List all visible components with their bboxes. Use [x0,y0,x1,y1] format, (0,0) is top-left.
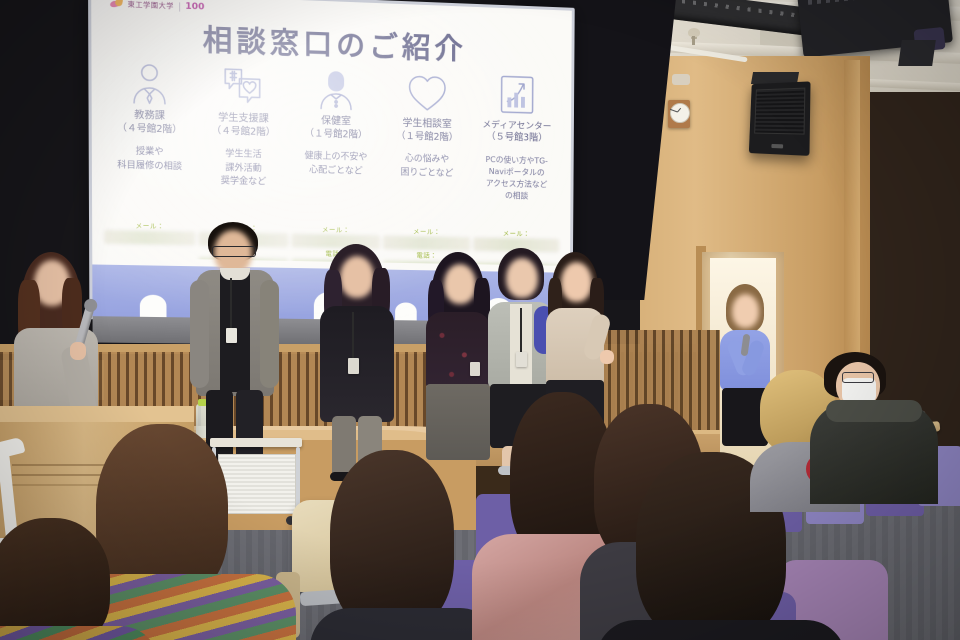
lecture-hall-photo: 東工学園大学 100 相談窓口のご紹介 教務課 [0,0,960,640]
desk-column-kyomuka: 教務課 （４号館2階） 授業や 科目履修の相談 [104,56,195,195]
sprinkler-head-icon [688,28,700,37]
desk-location: （１号館2階） [292,127,380,142]
consultation-desk-columns: 教務課 （４号館2階） 授業や 科目履修の相談 学生支援課 （４号 [104,56,560,203]
mail-value-redacted [383,236,469,251]
panelist-floral-blouse [424,252,494,470]
mail-value-redacted [105,230,195,245]
desk-column-gakusei-shienka: 学生支援課 （４号館2階） 学生生活 課外活動 奨学金など [199,59,288,197]
ceiling-speaker-icon [749,81,811,156]
university-logo: 東工学園大学 100 [110,0,205,13]
desk-description: 授業や 科目履修の相談 [104,145,195,175]
desk-description: PCの使い方やTG- Naviポータルの アクセス方法など の相談 [474,154,559,203]
logo-anniversary-badge: 100 [185,2,204,13]
mail-label: メール： [105,219,195,231]
desk-location: （４号館2階） [104,122,195,138]
desk-location: （１号館2階） [384,130,471,145]
wall-clock-icon [668,100,690,128]
nurse-icon [292,62,380,111]
desk-column-gakusei-sodanshitsu: 学生相談室 （１号館2階） 心の悩みや 困りごとなど [384,65,471,201]
mail-label: メール： [383,225,469,237]
desk-description: 学生生活 課外活動 奨学金など [199,148,288,191]
wall-light [672,74,690,85]
projector-vent [808,0,898,5]
building-arch-shape [395,302,417,320]
heart-icon [384,65,471,114]
logo-mark-icon [110,0,122,9]
panelist-black-cardigan [318,244,396,476]
eyeglasses [842,372,874,383]
hood [826,400,922,422]
bar-chart-arrow-icon [474,69,560,117]
projector-mount [898,40,936,66]
desk-column-media-center: メディアセンター （５号館3階） PCの使い方やTG- Naviポータルの アク… [474,69,560,204]
mail-label: メール： [474,227,559,239]
desk-description: 心の悩みや 困りごとなど [384,153,471,182]
person-necktie-icon [104,56,195,106]
desk-location: （４号館2階） [199,125,288,140]
desk-location: （５号館3階） [474,131,559,146]
logo-university-name: 東工学園大学 [128,0,174,11]
mail-label: メール： [292,223,380,235]
desk-column-hokenshitsu: 保健室 （１号館2階） 健康上の不安や 心配ごとなど [292,62,380,199]
building-arch-shape [140,295,167,318]
chat-bubbles-heart-icon [199,59,288,108]
logo-divider [179,2,180,11]
panelist-grey-blazer [190,222,280,462]
desk-description: 健康上の不安や 心配ごとなど [292,150,380,179]
